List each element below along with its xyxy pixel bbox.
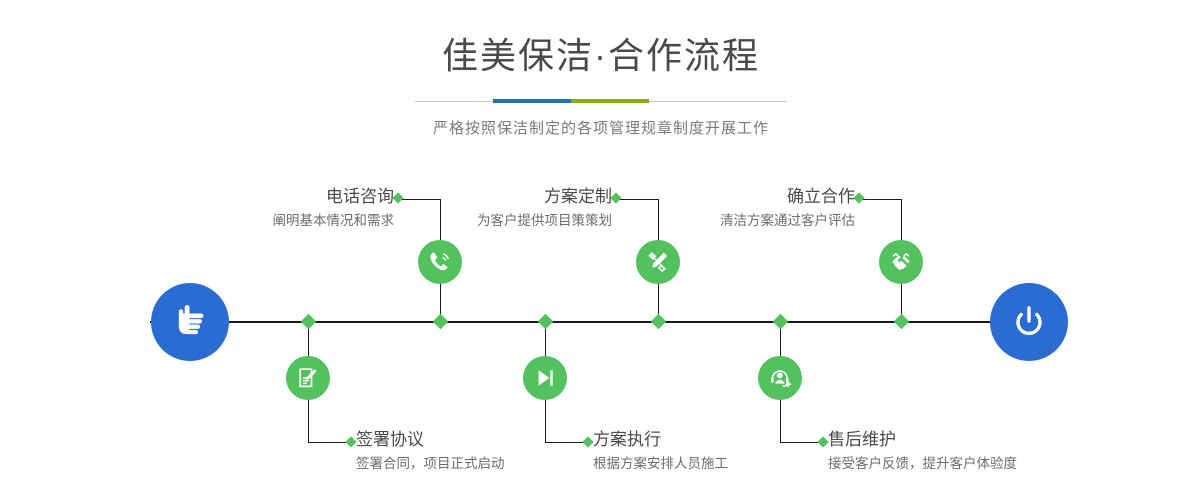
axis-marker-step-4 — [538, 314, 554, 330]
timeline-end-node — [990, 283, 1068, 361]
step-desc-5: 清洁方案通过客户评估 — [565, 211, 855, 231]
axis-marker-step-6 — [773, 314, 789, 330]
timeline-start-node — [151, 283, 229, 361]
axis-marker-step-1 — [433, 314, 449, 330]
customer-service-add-icon — [767, 365, 793, 391]
connector-horizontal-step-5 — [860, 199, 902, 200]
axis-marker-step-2 — [301, 314, 317, 330]
connector-horizontal-step-2 — [308, 442, 350, 443]
header: 佳美保洁·合作流程 严格按照保洁制定的各项管理规章制度开展工作 — [0, 0, 1202, 138]
title-divider — [415, 99, 787, 103]
label-marker-step-5 — [853, 192, 864, 203]
step-desc-6: 接受客户反馈，提升客户体验度 — [828, 454, 1158, 474]
axis-marker-step-3 — [651, 314, 667, 330]
play-skip-icon — [532, 365, 558, 391]
divider-segment-green — [571, 99, 649, 103]
power-icon — [1007, 300, 1051, 344]
step-title-6: 售后维护 — [828, 429, 1158, 450]
phone-call-icon — [427, 249, 453, 275]
process-flow-infographic: 佳美保洁·合作流程 严格按照保洁制定的各项管理规章制度开展工作 — [0, 0, 1202, 502]
page-subtitle: 严格按照保洁制定的各项管理规章制度开展工作 — [0, 117, 1202, 138]
step-icon-5 — [879, 240, 923, 284]
document-edit-icon — [295, 365, 321, 391]
handshake-icon — [888, 249, 914, 275]
step-icon-2 — [286, 356, 330, 400]
divider-segment-blue — [493, 99, 571, 103]
step-icon-3 — [636, 240, 680, 284]
pointing-hand-icon — [168, 300, 212, 344]
step-icon-1 — [418, 240, 462, 284]
step-title-5: 确立合作 — [565, 186, 855, 207]
step-icon-6 — [758, 356, 802, 400]
pencil-ruler-icon — [645, 249, 671, 275]
step-icon-4 — [523, 356, 567, 400]
page-title: 佳美保洁·合作流程 — [0, 0, 1202, 77]
step-label-5: 确立合作 清洁方案通过客户评估 — [565, 186, 855, 231]
label-marker-step-2 — [345, 436, 356, 447]
step-label-6: 售后维护 接受客户反馈，提升客户体验度 — [828, 429, 1158, 474]
axis-marker-step-5 — [894, 314, 910, 330]
timeline-axis — [150, 321, 1052, 323]
